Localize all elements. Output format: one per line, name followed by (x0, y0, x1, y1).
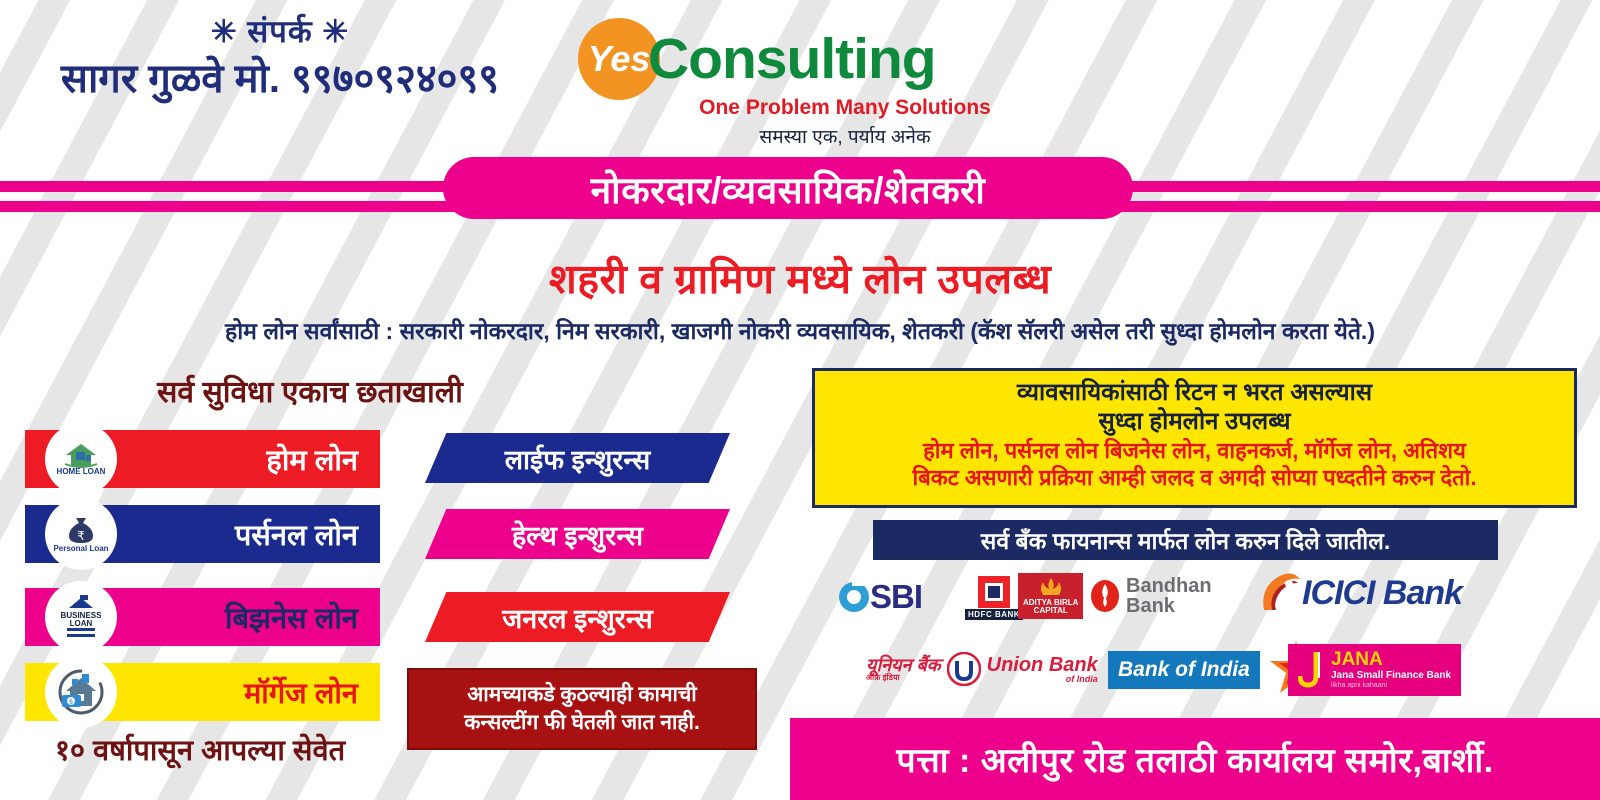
address-bar: पत्ता : अलीपुर रोड तलाठी कार्यालय समोर,ब… (790, 718, 1600, 800)
bandhan-wordmark-2: Bank (1126, 596, 1212, 616)
insurance-label-health: हेल्थ इन्शुरन्स (512, 516, 643, 553)
loan-label-mortgage: मॉर्गेज लोन (244, 673, 358, 712)
jana-box: JANA Jana Small Finance Bank likha apni … (1288, 644, 1461, 696)
contact-name-phone: सागर गुळवे मो. ९९७०९२४०९९ (0, 56, 560, 102)
logo-wordmark: Consulting (648, 31, 936, 88)
mortgage-loan-icon: $ (45, 656, 117, 728)
union-bank-en-line1: Union Bank (987, 654, 1098, 676)
icici-i-icon (1258, 572, 1302, 614)
left-section-title: सर्व सुविधा एकाच छताखाली (30, 370, 590, 411)
offer-red-line-1: होम लोन, पर्सनल लोन बिजनेस लोन, वाहनकर्ज… (825, 437, 1564, 464)
bank-logo-jana: JANA Jana Small Finance Bank likha apni … (1288, 644, 1461, 696)
union-bank-devanagari: यूनियन बैंक ऑफ़ इंडिया (866, 656, 941, 682)
hdfc-caption: HDFC BANK (965, 609, 1023, 620)
bank-logo-bank-of-india: Bank of India (1108, 651, 1260, 689)
hdfc-square-icon (977, 575, 1011, 609)
bank-logo-aditya-birla: ADITYA BIRLA CAPITAL (1018, 573, 1083, 619)
home-loan-icon-glyph (63, 442, 99, 468)
loan-item-mortgage: मॉर्गेज लोन $ (25, 663, 380, 721)
sbi-wordmark: SBI (870, 578, 922, 616)
offer-dark-line-2: सुध्दा होमलोन उपलब्ध (825, 407, 1564, 436)
bank-logo-bandhan: Bandhan Bank (1090, 576, 1212, 616)
no-consulting-fee-note: आमच्याकडे कुठल्याही कामाची कन्सल्टींग फी… (407, 668, 757, 750)
loan-label-business: बिझनेस लोन (225, 598, 358, 637)
offer-red-line-2: बिकट असणारी प्रक्रिया आम्ही जलद व अगदी स… (825, 464, 1564, 491)
sbi-keyhole-icon (838, 581, 870, 613)
icici-wordmark: ICICI Bank (1302, 574, 1462, 613)
boi-wordmark: Bank of India (1118, 658, 1250, 682)
business-loan-icon: BUSINESS LOAN (45, 581, 117, 653)
loan-item-home: होम लोन HOME LOAN (25, 430, 380, 488)
loan-item-personal: पर्सनल लोन ₹ Personal Loan (25, 505, 380, 563)
bandhan-drop-icon (1090, 579, 1120, 613)
jana-wordmark: JANA (1331, 650, 1451, 669)
bank-logo-union-bank: यूनियन बैंक ऑफ़ इंडिया Union Bank of Ind… (866, 652, 1098, 686)
bank-logo-sbi: SBI (838, 578, 922, 616)
loan-label-home: होम लोन (266, 440, 358, 479)
money-bag-icon-glyph: ₹ (65, 515, 97, 545)
aditya-birla-flame-icon (1036, 577, 1066, 599)
offer-dark-line-1: व्यावसायिकांसाठी रिटन न भरत असल्यास (825, 378, 1564, 407)
union-bank-en-line2: of India (987, 675, 1098, 684)
bandhan-wordmark-1: Bandhan (1126, 576, 1212, 596)
insurance-bar-general: जनरल इन्शुरन्स (425, 592, 730, 642)
bank-logo-hdfc: HDFC BANK (965, 575, 1023, 620)
union-bank-u-icon (947, 652, 981, 686)
jana-tagline: likha apni kahaani (1331, 682, 1451, 690)
fee-note-line-2: कन्सल्टींग फी घेतली जात नाही. (464, 709, 700, 737)
loan-label-personal: पर्सनल लोन (235, 515, 358, 554)
insurance-label-general: जनरल इन्शुरन्स (502, 599, 653, 636)
money-bag-icon: ₹ Personal Loan (45, 498, 117, 570)
promotional-banner: ✳ संपर्क ✳ सागर गुळवे मो. ९९७०९२४०९९ Yes… (0, 0, 1600, 800)
loan-item-business: बिझनेस लोन BUSINESS LOAN (25, 588, 380, 646)
jana-subtitle: Jana Small Finance Bank (1331, 669, 1451, 682)
bank-finance-note: सर्व बँक फायनान्स मार्फत लोन करुन दिले ज… (873, 520, 1498, 560)
union-bank-dev-line1: यूनियन बैंक (866, 655, 941, 675)
boi-box: Bank of India (1108, 651, 1260, 689)
eligibility-subline: होम लोन सर्वांसाठी : सरकारी नोकरदार, निम… (0, 314, 1600, 346)
business-loan-icon-glyph: BUSINESS LOAN (61, 594, 101, 640)
aditya-birla-caption-2: CAPITAL (1034, 607, 1068, 615)
union-bank-dev-line2: ऑफ़ इंडिया (866, 674, 941, 682)
contact-title: ✳ संपर्क ✳ (0, 14, 560, 50)
home-loan-icon: HOME LOAN (45, 423, 117, 495)
home-loan-caption: HOME LOAN (57, 468, 106, 476)
logo-tagline-en: One Problem Many Solutions (570, 96, 1040, 120)
contact-block: ✳ संपर्क ✳ सागर गुळवे मो. ९९७०९२४०९९ (0, 14, 560, 102)
business-owner-offer-box: व्यावसायिकांसाठी रिटन न भरत असल्यास सुध्… (812, 368, 1577, 508)
logo-tagline-mr: समस्या एक, पर्याय अनेक (570, 123, 1040, 149)
svg-text:LOAN: LOAN (70, 619, 93, 628)
company-logo: Yes Consulting One Problem Many Solution… (570, 18, 1040, 148)
audience-pill-banner: नोकरदार/व्यवसायिक/शेतकरी (443, 157, 1133, 219)
fee-note-line-1: आमच्याकडे कुठल्याही कामाची (467, 681, 696, 709)
personal-loan-caption: Personal Loan (53, 545, 108, 553)
svg-text:₹: ₹ (77, 529, 85, 543)
years-of-service-note: १० वर्षापासून आपल्या सेवेत (0, 730, 400, 769)
svg-text:$: $ (69, 698, 73, 706)
union-bank-english: Union Bank of India (987, 655, 1098, 684)
mortgage-loan-icon-glyph: $ (56, 668, 106, 716)
insurance-bar-health: हेल्थ इन्शुरन्स (425, 509, 730, 559)
insurance-bar-life: लाईफ इन्शुरन्स (425, 433, 730, 483)
bank-logo-icici: ICICI Bank (1258, 572, 1462, 614)
main-headline: शहरी व ग्रामिण मध्ये लोन उपलब्ध (0, 250, 1600, 306)
insurance-label-life: लाईफ इन्शुरन्स (505, 440, 651, 477)
jana-j-icon (1298, 650, 1324, 690)
